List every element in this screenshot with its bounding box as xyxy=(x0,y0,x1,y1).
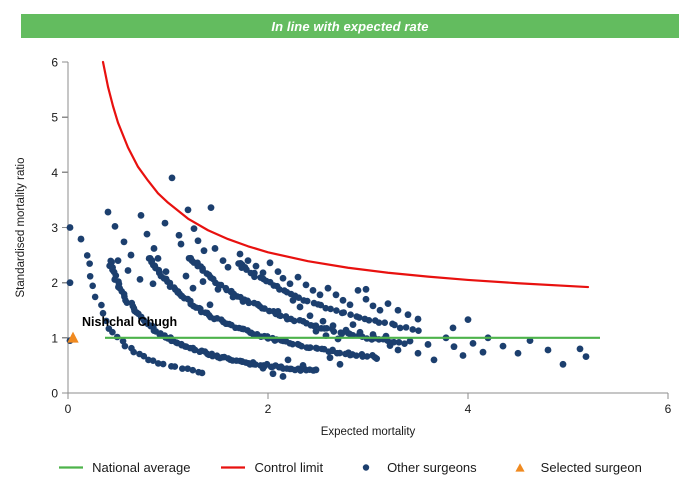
y-axis-title: Standardised mortality ratio xyxy=(15,158,27,298)
legend-label-other-surgeons: Other surgeons xyxy=(387,460,477,475)
legend-item-other-surgeons[interactable]: Other surgeons xyxy=(353,460,477,475)
data-point xyxy=(78,236,85,243)
data-point xyxy=(87,273,94,280)
data-point xyxy=(105,209,112,216)
data-point xyxy=(330,322,337,329)
control-limit-curve xyxy=(103,62,588,287)
data-point xyxy=(275,308,282,315)
data-point xyxy=(125,267,132,274)
data-point xyxy=(207,301,214,308)
data-point xyxy=(144,231,151,238)
data-point xyxy=(340,297,347,304)
data-point xyxy=(515,350,522,357)
funnel-plot-page: In line with expected rate 01234560246Ex… xyxy=(0,0,700,500)
data-point xyxy=(350,321,357,328)
data-point xyxy=(151,245,158,252)
data-point xyxy=(89,283,96,290)
selected-surgeon-marker[interactable] xyxy=(67,332,78,343)
data-point xyxy=(245,257,252,264)
data-point xyxy=(175,288,182,295)
data-point xyxy=(340,309,347,316)
data-point xyxy=(112,223,119,230)
data-point xyxy=(370,302,377,309)
dot-swatch-icon xyxy=(353,461,379,474)
data-point xyxy=(163,268,170,275)
data-point xyxy=(310,287,317,294)
data-point xyxy=(183,273,190,280)
data-point xyxy=(215,286,222,293)
data-point xyxy=(415,327,422,334)
x-axis-title: Expected mortality xyxy=(321,426,416,438)
legend-label-selected-surgeon: Selected surgeon xyxy=(541,460,642,475)
data-point xyxy=(409,326,416,333)
data-points-group xyxy=(67,174,590,379)
funnel-plot-svg: 01234560246Expected mortalityStandardise… xyxy=(0,40,700,440)
data-point xyxy=(280,275,287,282)
data-point xyxy=(480,349,487,356)
data-point xyxy=(285,357,292,364)
triangle-swatch-icon xyxy=(507,461,533,474)
plot-axes xyxy=(68,62,668,393)
data-point xyxy=(270,370,277,377)
data-point xyxy=(230,294,237,301)
x-axis-tick-label: 6 xyxy=(665,402,672,416)
data-point xyxy=(84,252,91,259)
data-point xyxy=(190,285,197,292)
data-point xyxy=(162,220,169,227)
data-point xyxy=(208,204,215,211)
data-point xyxy=(150,280,157,287)
data-point xyxy=(327,306,334,313)
data-point xyxy=(465,316,472,323)
data-point xyxy=(191,225,198,232)
data-point xyxy=(303,281,310,288)
data-point xyxy=(267,259,274,266)
data-point xyxy=(325,285,332,292)
data-point xyxy=(415,316,422,323)
data-point xyxy=(201,247,208,254)
data-point xyxy=(415,350,422,357)
data-point xyxy=(391,322,398,329)
data-point xyxy=(189,367,196,374)
status-banner: In line with expected rate xyxy=(21,14,679,38)
data-point xyxy=(357,329,364,336)
y-axis-tick-label: 6 xyxy=(51,56,58,70)
data-point xyxy=(115,257,122,264)
data-point xyxy=(212,245,219,252)
data-point xyxy=(385,300,392,307)
data-point xyxy=(287,280,294,287)
data-point xyxy=(313,366,320,373)
y-axis-tick-label: 2 xyxy=(51,276,58,290)
data-point xyxy=(337,361,344,368)
data-point xyxy=(300,362,307,369)
legend-item-selected-surgeon[interactable]: Selected surgeon xyxy=(507,460,642,475)
line-swatch-icon xyxy=(220,461,246,474)
data-point xyxy=(260,269,267,276)
data-point xyxy=(450,325,457,332)
data-point xyxy=(160,361,167,368)
data-point xyxy=(137,276,144,283)
data-point xyxy=(109,329,116,336)
data-point xyxy=(403,324,410,331)
data-point xyxy=(395,347,402,354)
data-point xyxy=(451,343,458,350)
data-point xyxy=(253,263,260,270)
y-axis-tick-label: 3 xyxy=(51,221,58,235)
data-point xyxy=(366,317,373,324)
data-point xyxy=(583,353,590,360)
y-axis-tick-label: 0 xyxy=(51,387,58,401)
data-point xyxy=(381,319,388,326)
x-axis-tick-label: 4 xyxy=(465,402,472,416)
data-point xyxy=(178,241,185,248)
data-point xyxy=(577,345,584,352)
data-point xyxy=(67,279,74,286)
data-point xyxy=(313,328,320,335)
data-point xyxy=(128,252,135,259)
data-point xyxy=(86,260,93,267)
data-point xyxy=(317,291,324,298)
data-point xyxy=(343,327,350,334)
legend-item-control-limit[interactable]: Control limit xyxy=(220,460,323,475)
y-axis-tick-label: 1 xyxy=(51,331,58,345)
data-point xyxy=(237,251,244,258)
data-point xyxy=(121,238,128,245)
data-point xyxy=(280,373,287,380)
data-point xyxy=(169,174,176,181)
data-point xyxy=(304,298,311,305)
data-point xyxy=(295,274,302,281)
data-point xyxy=(307,344,314,351)
data-point xyxy=(185,206,192,213)
data-point xyxy=(307,312,314,319)
data-point xyxy=(431,357,438,364)
data-point xyxy=(240,298,247,305)
data-point xyxy=(500,343,507,350)
data-point xyxy=(290,297,297,304)
data-point xyxy=(195,237,202,244)
data-point xyxy=(122,343,129,350)
data-point xyxy=(220,257,227,264)
data-point xyxy=(199,370,206,377)
data-point xyxy=(545,347,552,354)
data-point xyxy=(353,352,360,359)
data-point xyxy=(363,296,370,303)
data-point xyxy=(333,291,340,298)
chart-legend: National average Control limit Other sur… xyxy=(0,452,700,482)
data-point xyxy=(200,278,207,285)
data-point xyxy=(155,255,162,262)
data-point xyxy=(320,318,327,325)
data-point xyxy=(560,361,567,368)
data-point xyxy=(327,354,334,361)
x-axis-tick-label: 2 xyxy=(265,402,272,416)
data-point xyxy=(405,311,412,318)
data-point xyxy=(460,352,467,359)
data-point xyxy=(347,301,354,308)
data-point xyxy=(98,302,105,309)
data-point xyxy=(138,212,145,219)
data-point xyxy=(335,336,342,343)
data-point xyxy=(92,294,99,301)
data-point xyxy=(331,328,338,335)
y-axis-tick-label: 4 xyxy=(51,166,58,180)
data-point xyxy=(470,340,477,347)
data-point xyxy=(396,339,403,346)
y-axis-tick-label: 5 xyxy=(51,111,58,125)
data-point xyxy=(425,341,432,348)
data-point xyxy=(176,232,183,239)
data-point xyxy=(225,264,232,271)
data-point xyxy=(387,342,394,349)
status-banner-label: In line with expected rate xyxy=(271,19,428,34)
data-point xyxy=(363,286,370,293)
data-point xyxy=(260,365,267,372)
data-point xyxy=(255,301,262,308)
data-point xyxy=(377,307,384,314)
data-point xyxy=(275,268,282,275)
selected-surgeon-annotation: Nishchal Chugh xyxy=(82,315,177,329)
data-point xyxy=(395,307,402,314)
data-point xyxy=(172,363,179,370)
data-point xyxy=(247,361,254,368)
data-point xyxy=(397,325,404,332)
data-point xyxy=(291,318,298,325)
data-point xyxy=(347,311,354,318)
data-point xyxy=(373,355,380,362)
data-point xyxy=(355,287,362,294)
legend-label-national-average: National average xyxy=(92,460,190,475)
legend-label-control-limit: Control limit xyxy=(254,460,323,475)
data-point xyxy=(297,304,304,311)
x-axis-tick-label: 0 xyxy=(65,402,72,416)
data-point xyxy=(130,349,137,356)
data-point xyxy=(333,307,340,314)
legend-item-national-average[interactable]: National average xyxy=(58,460,190,475)
data-point xyxy=(251,273,258,280)
chart-area: 01234560246Expected mortalityStandardise… xyxy=(0,40,700,440)
data-point xyxy=(67,224,74,231)
line-swatch-icon xyxy=(58,461,84,474)
data-point xyxy=(336,350,343,357)
data-point xyxy=(356,314,363,321)
data-point xyxy=(376,319,383,326)
